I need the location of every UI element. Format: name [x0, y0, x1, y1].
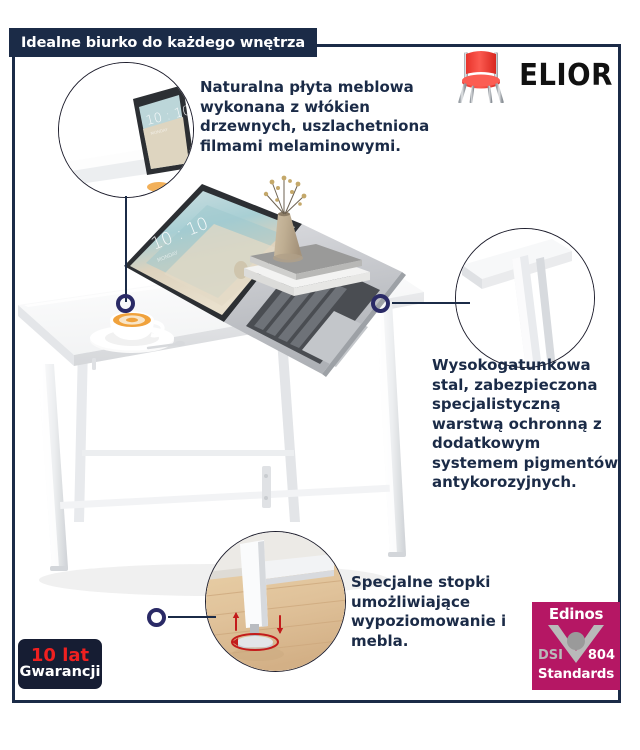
- connector-line-board: [125, 196, 127, 302]
- warranty-badge: 10 lat Gwarancji: [18, 639, 102, 689]
- connector-line-feet: [168, 616, 216, 618]
- certification-badge: Edinos DSI 804 Standards: [532, 602, 620, 690]
- connector-line-steel: [392, 302, 470, 304]
- callout-text-board: Naturalna płyta meblowa wykonana z włóki…: [200, 78, 452, 156]
- infographic-canvas: Idealne biurko do każdego wnętrza: [0, 0, 640, 750]
- callout-bubble-feet: [205, 531, 346, 672]
- callout-bubble-steel: [455, 228, 595, 368]
- warranty-label: Gwarancji: [20, 665, 101, 681]
- red-chair-icon: [455, 47, 507, 103]
- header-title-badge: Idealne biurko do każdego wnętrza: [10, 29, 316, 56]
- callout-bubble-board: 10 : 10 MONDAY: [58, 62, 194, 198]
- callout-text-steel: Wysokogatunkowa stal, zabezpieczona spec…: [432, 356, 622, 493]
- brand-name: ELIOR: [519, 58, 613, 93]
- product-desk-illustration: 10 : 10 MONDAY: [14, 150, 434, 620]
- brand-logo: ELIOR: [455, 47, 615, 103]
- page-title: Idealne biurko do każdego wnętrza: [21, 35, 305, 51]
- connector-ring-feet: [147, 608, 166, 627]
- connector-ring-steel: [371, 294, 390, 313]
- callout-text-feet: Specjalne stopki umożliwiające wypoziomo…: [351, 573, 531, 651]
- edinos-standards: Standards: [538, 666, 614, 682]
- edinos-title: Edinos: [549, 605, 603, 623]
- connector-ring-board: [116, 294, 135, 313]
- warranty-years: 10 lat: [31, 647, 89, 666]
- edinos-left-code: DSI: [538, 648, 563, 663]
- edinos-right-code: 804: [588, 648, 615, 663]
- edinos-checkmark-icon: DSI 804: [532, 623, 620, 667]
